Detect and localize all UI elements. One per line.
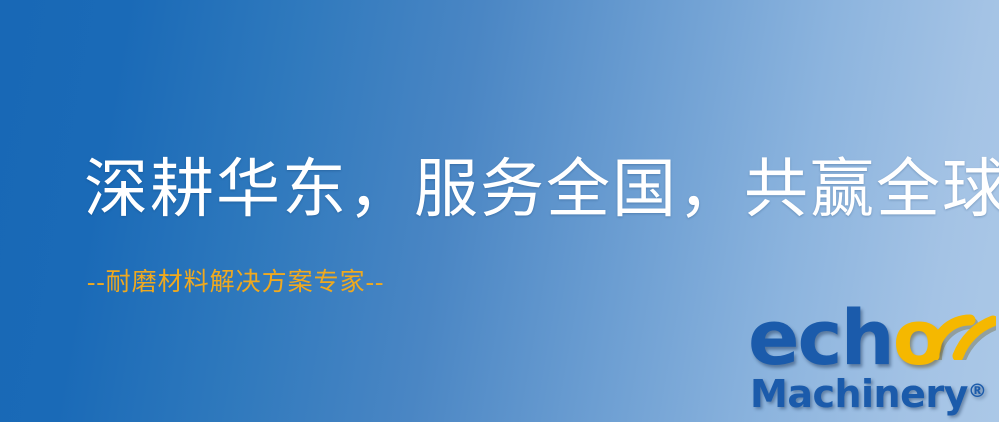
logo-tagline-text: Machinery	[750, 372, 968, 416]
logo-tagline: Machinery®	[750, 372, 987, 413]
logo-wordmark-prefix: ech	[748, 293, 893, 382]
page-title: 深耕华东，服务全国，共赢全球	[84, 152, 999, 228]
signal-waves-icon	[924, 298, 996, 360]
logo-wordmark: echo	[748, 300, 943, 376]
brand-logo[interactable]: echo Machinery®	[748, 300, 996, 420]
page-subtitle: --耐磨材料解决方案专家--	[87, 268, 384, 298]
promo-banner: 深耕华东，服务全国，共赢全球 --耐磨材料解决方案专家-- echo Machi…	[0, 0, 999, 422]
registered-trademark-icon: ®	[968, 380, 987, 402]
